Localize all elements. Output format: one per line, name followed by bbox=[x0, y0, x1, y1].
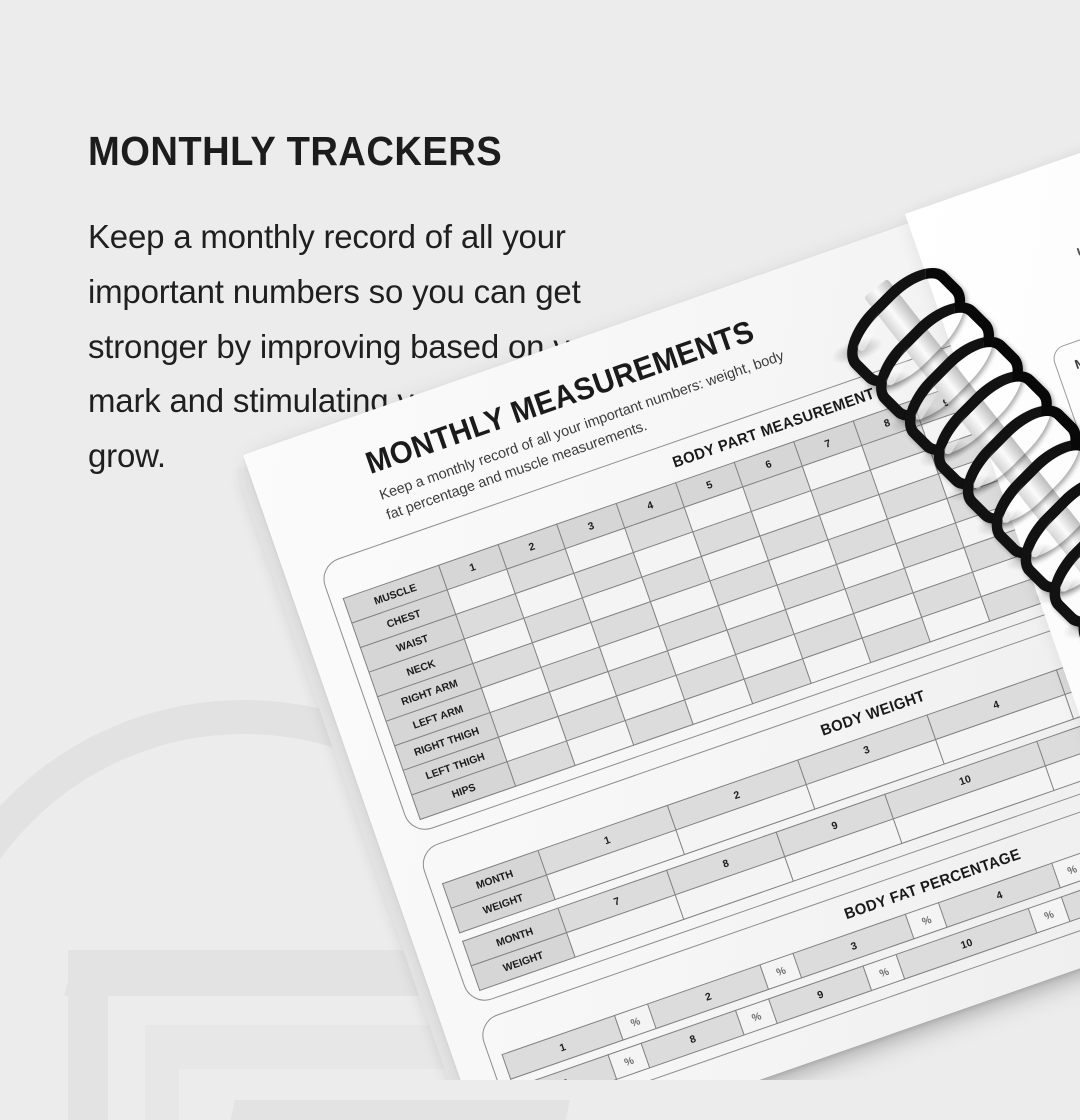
watermark-bar-3 bbox=[225, 1100, 570, 1120]
notebook-photo: MONTHLY MEASUREMENTS Keep a monthly reco… bbox=[0, 0, 1080, 1080]
